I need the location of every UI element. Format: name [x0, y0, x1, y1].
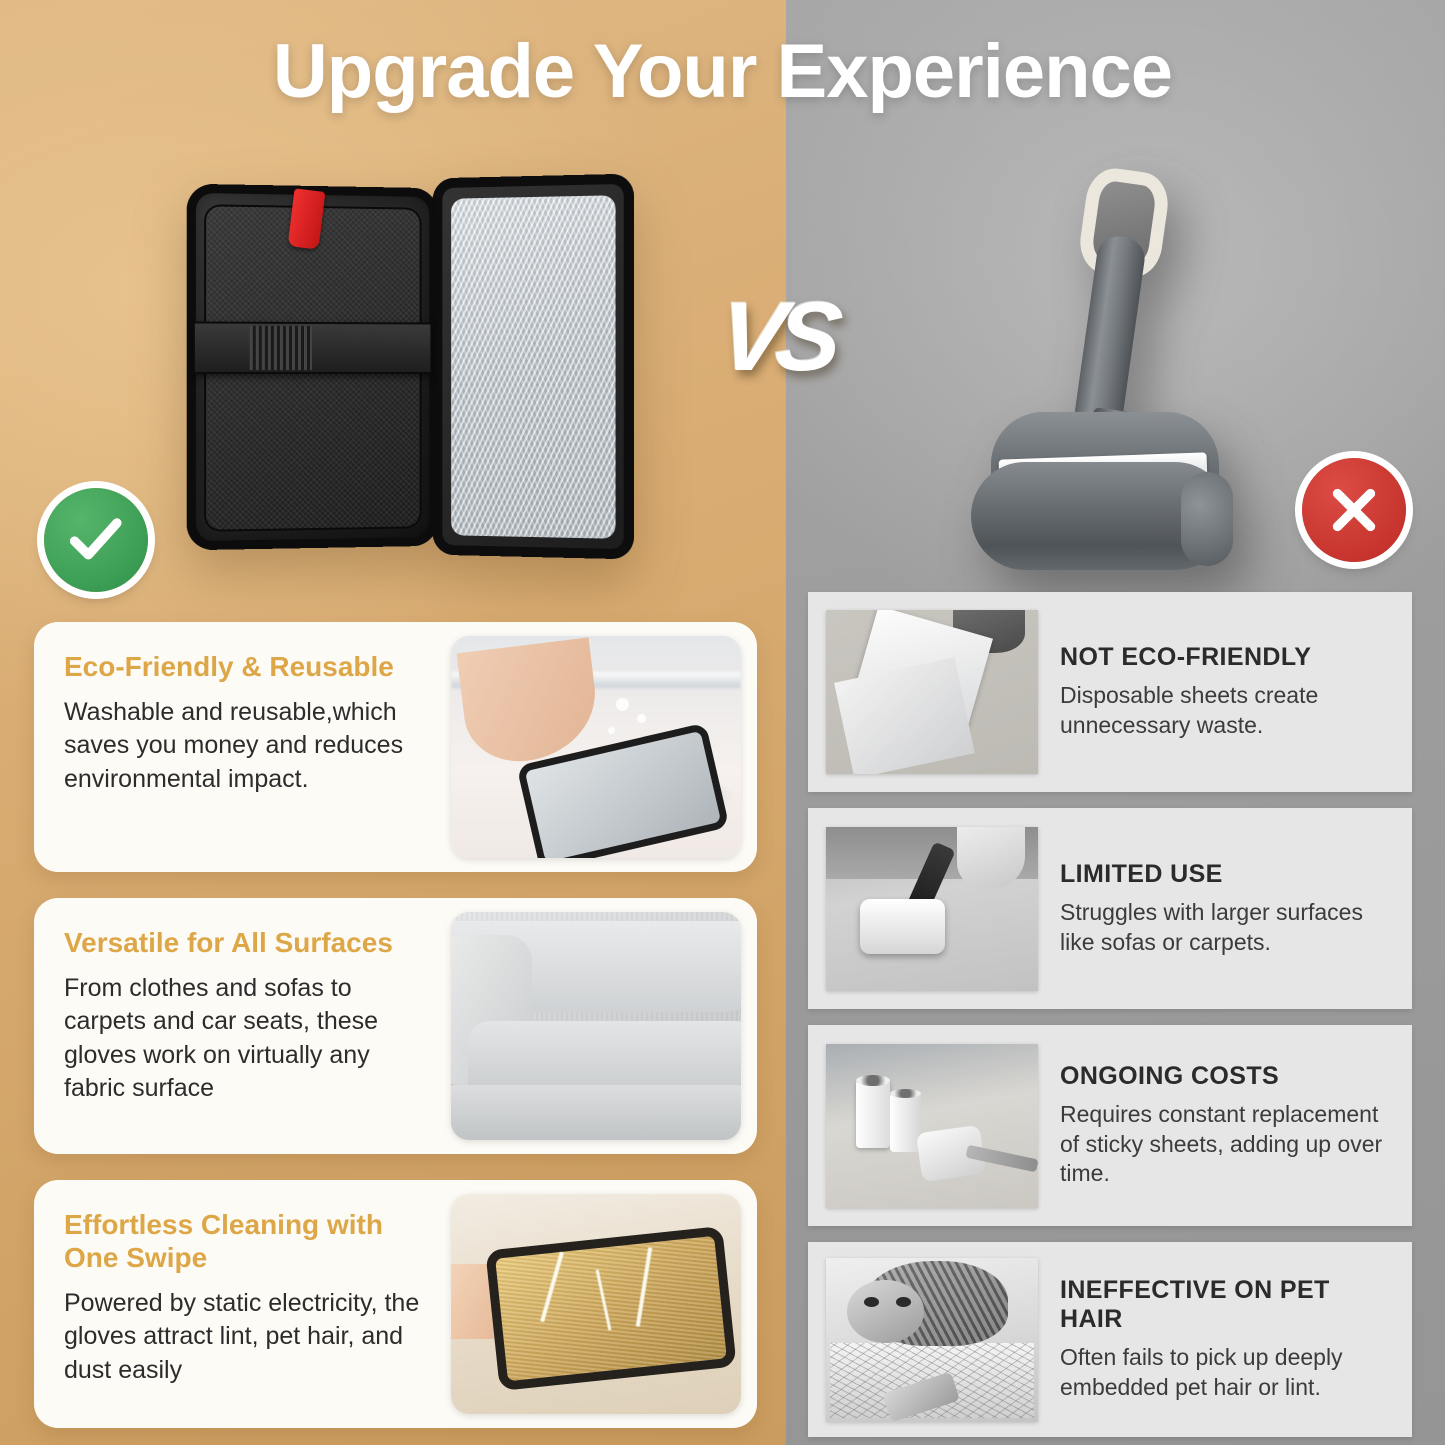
con-card-body: Requires constant replacement of sticky …	[1060, 1100, 1396, 1190]
con-card-title: ONGOING COSTS	[1060, 1062, 1396, 1091]
con-card-text: NOT ECO-FRIENDLY Disposable sheets creat…	[1060, 643, 1412, 741]
pro-card-title: Effortless Cleaning with One Swipe	[64, 1208, 437, 1274]
con-card-thumbnail-cat	[826, 1258, 1038, 1422]
pro-card-thumbnail-static	[451, 1194, 741, 1414]
refill-roll	[856, 1080, 890, 1149]
bubble	[616, 698, 629, 711]
roller-drum	[860, 899, 945, 955]
con-card[interactable]: ONGOING COSTS Requires constant replacem…	[808, 1025, 1412, 1226]
hero-image-lint-roller	[955, 170, 1255, 550]
cat-face	[847, 1280, 923, 1342]
sofa-front-panel	[451, 1085, 741, 1140]
roller-body	[834, 657, 975, 774]
glove-microfiber-flap	[433, 174, 634, 560]
con-card[interactable]: NOT ECO-FRIENDLY Disposable sheets creat…	[808, 592, 1412, 792]
pro-card-thumbnail-washing	[451, 636, 741, 858]
hand	[957, 827, 1025, 889]
con-card-title: LIMITED USE	[1060, 860, 1396, 889]
pro-card-thumbnail-sofa	[451, 912, 741, 1140]
con-card-text: INEFFECTIVE ON PET HAIR Often fails to p…	[1060, 1276, 1412, 1403]
con-card-title: NOT ECO-FRIENDLY	[1060, 643, 1396, 672]
pro-card-text: Effortless Cleaning with One Swipe Power…	[34, 1180, 451, 1428]
roller-end-cap	[1181, 472, 1233, 566]
pro-card-title: Eco-Friendly & Reusable	[64, 650, 437, 683]
pro-card-body: From clothes and sofas to carpets and ca…	[64, 972, 437, 1105]
page-title: Upgrade Your Experience	[0, 28, 1445, 115]
con-card-thumbnail-sticky-sheet	[826, 610, 1038, 774]
forearm	[456, 637, 602, 768]
cat-eye	[864, 1297, 879, 1307]
con-card[interactable]: LIMITED USE Struggles with larger surfac…	[808, 808, 1412, 1009]
con-card-text: LIMITED USE Struggles with larger surfac…	[1060, 860, 1412, 958]
pro-card-body: Washable and reusable,which saves you mo…	[64, 696, 437, 796]
pro-card-body: Powered by static electricity, the glove…	[64, 1287, 437, 1387]
con-card-body: Often fails to pick up deeply embedded p…	[1060, 1343, 1396, 1403]
pro-card[interactable]: Versatile for All Surfaces From clothes …	[34, 898, 757, 1154]
versus-label: VS	[714, 287, 837, 385]
cross-mark-icon	[1302, 458, 1406, 562]
con-card-body: Disposable sheets create unnecessary was…	[1060, 681, 1396, 741]
microfiber-surface	[451, 195, 615, 539]
con-card-thumbnail-carpet	[826, 827, 1038, 991]
hero-image-reusable-glove	[188, 176, 628, 558]
con-card-thumbnail-refills	[826, 1044, 1038, 1208]
comparison-infographic: Upgrade Your Experience VS Eco-Friendly …	[0, 0, 1445, 1445]
con-card-body: Struggles with larger surfaces like sofa…	[1060, 898, 1396, 958]
static-charged-pad	[485, 1226, 737, 1391]
versus-badge: VS	[686, 276, 866, 396]
bubble	[608, 727, 615, 734]
pro-card[interactable]: Eco-Friendly & Reusable Washable and reu…	[34, 622, 757, 872]
bubble	[637, 714, 646, 723]
check-mark-icon	[44, 488, 148, 592]
pro-card-title: Versatile for All Surfaces	[64, 926, 437, 959]
pro-card[interactable]: Effortless Cleaning with One Swipe Power…	[34, 1180, 757, 1428]
con-card-text: ONGOING COSTS Requires constant replacem…	[1060, 1062, 1412, 1190]
hand-strap	[193, 321, 432, 374]
pro-card-text: Eco-Friendly & Reusable Washable and reu…	[34, 622, 451, 872]
con-card[interactable]: INEFFECTIVE ON PET HAIR Often fails to p…	[808, 1242, 1412, 1437]
pro-card-text: Versatile for All Surfaces From clothes …	[34, 898, 451, 1154]
cat-eye	[896, 1297, 911, 1307]
con-card-title: INEFFECTIVE ON PET HAIR	[1060, 1276, 1396, 1334]
